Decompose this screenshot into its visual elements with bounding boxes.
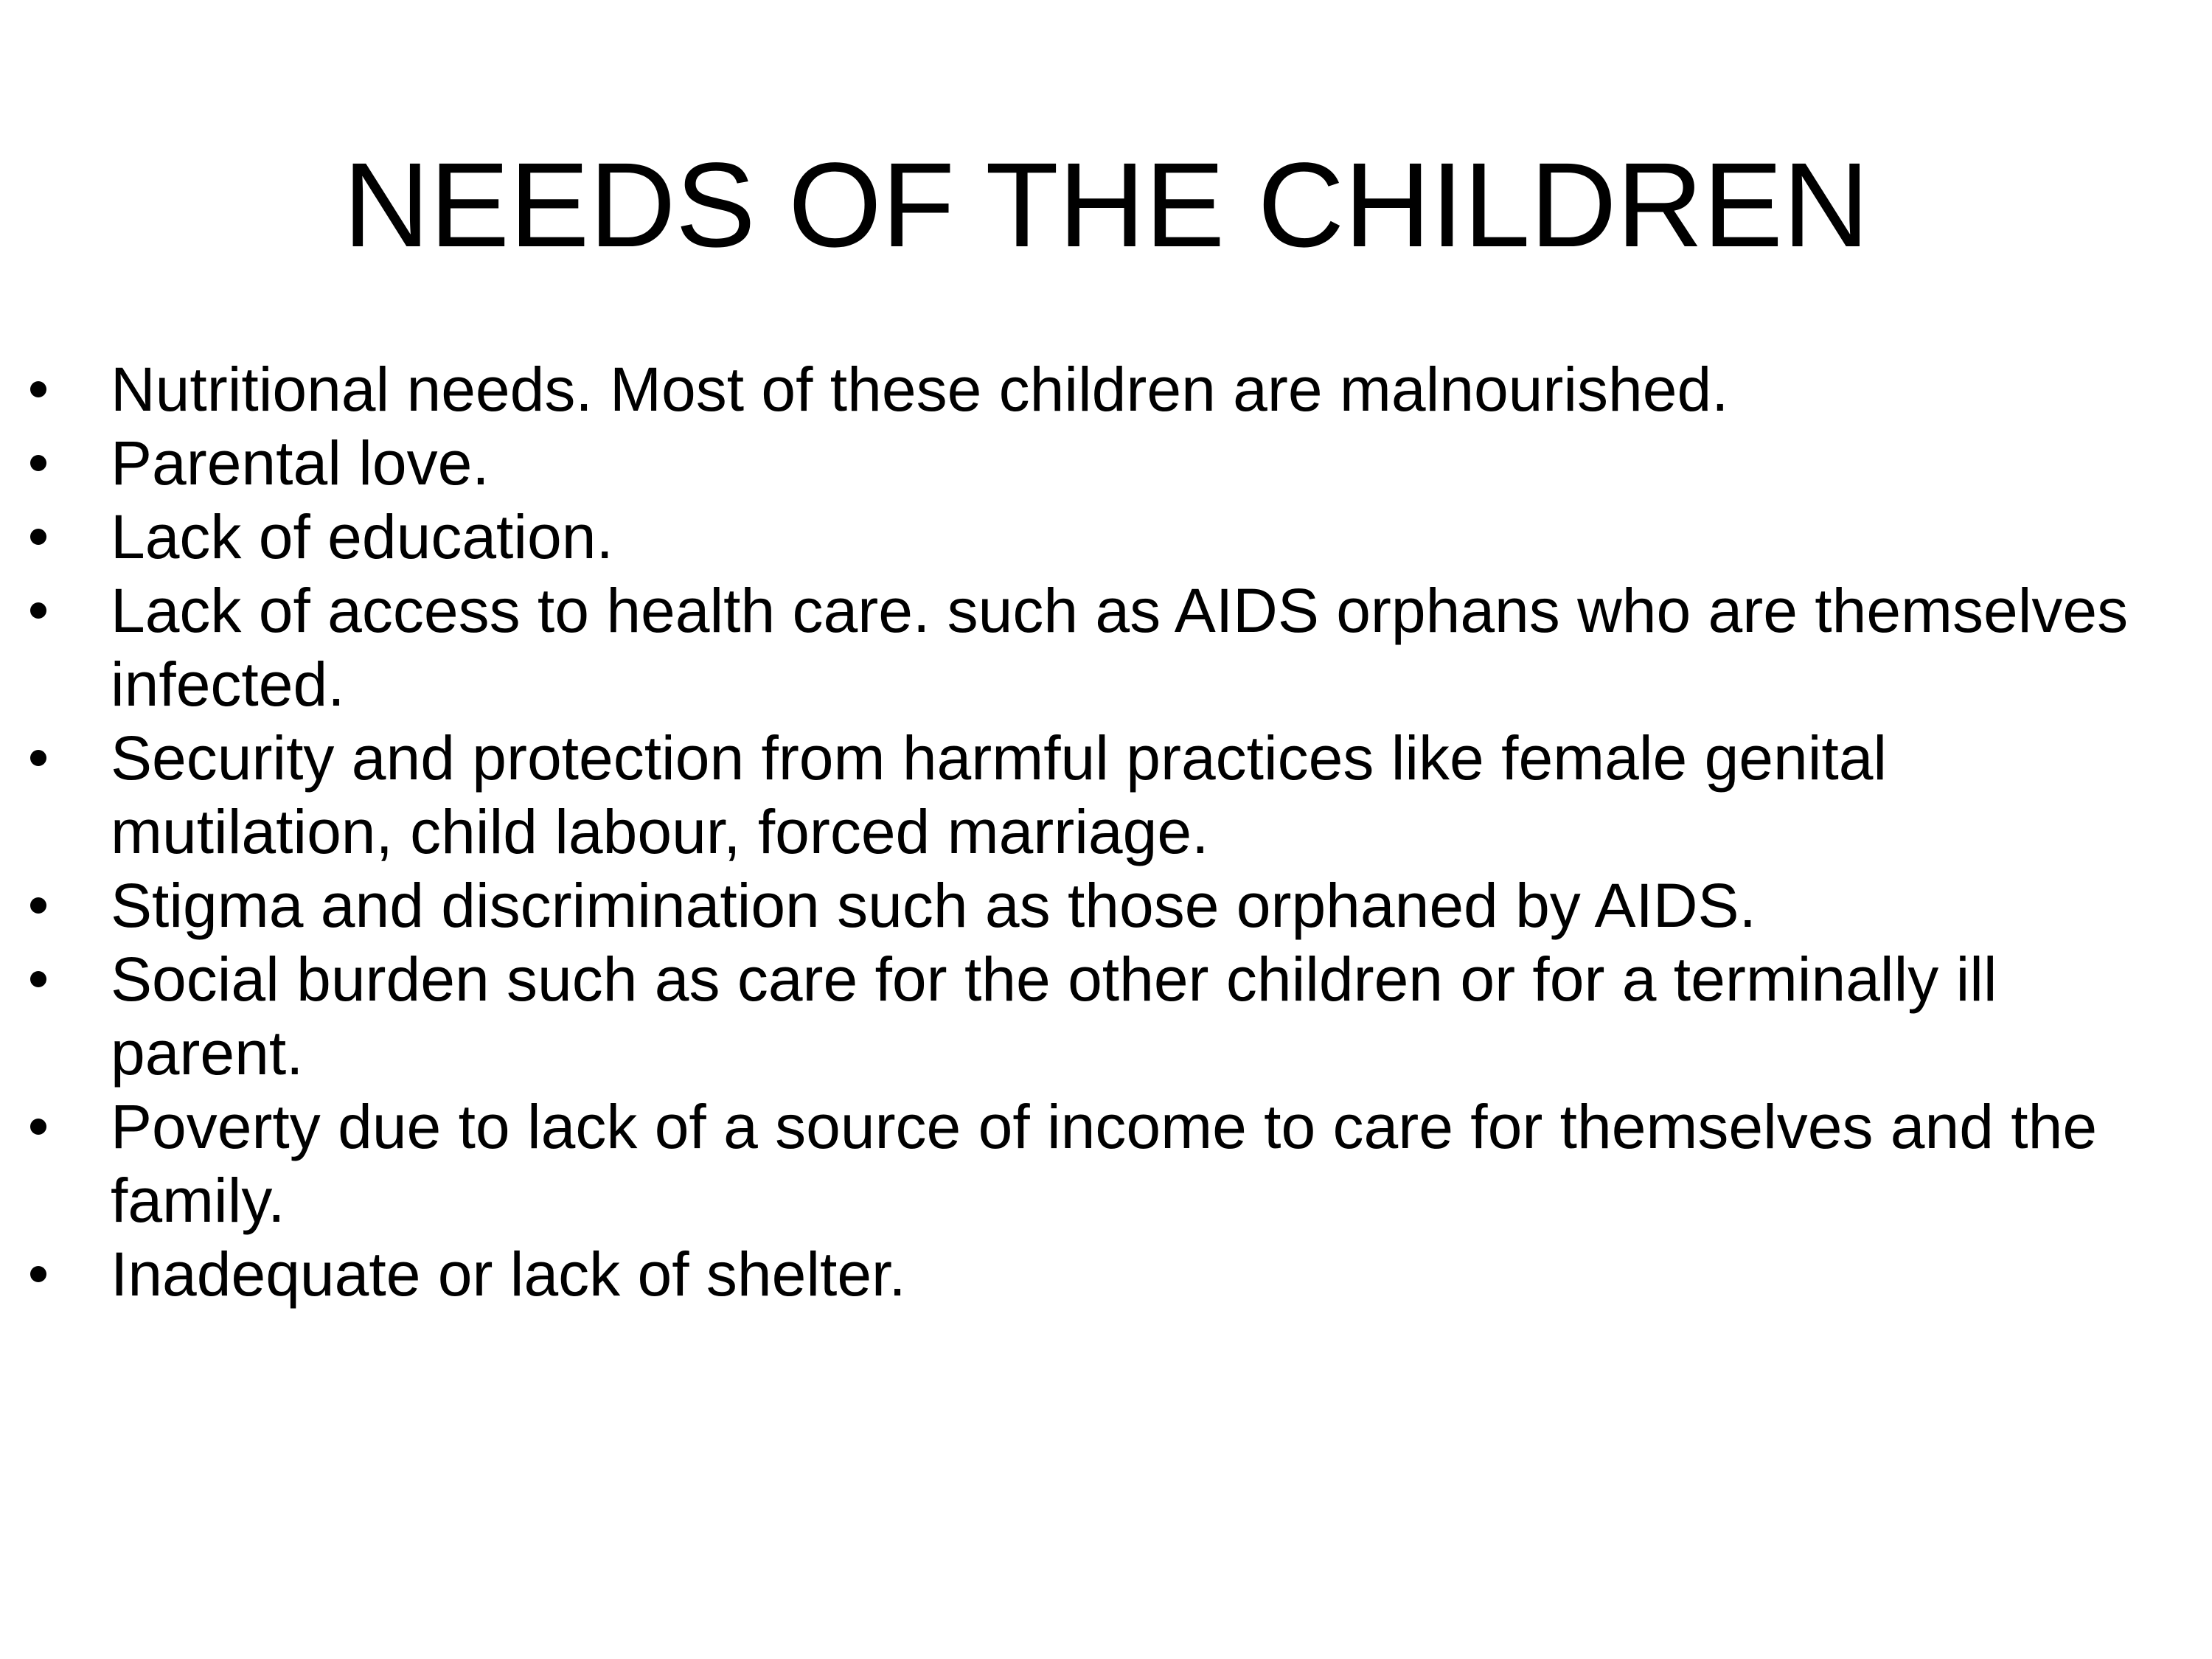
list-item-label: Security and protection from harmful pra… [111, 721, 2168, 869]
list-item: Nutritional needs. Most of these childre… [0, 352, 2168, 426]
list-item-label: Nutritional needs. Most of these childre… [111, 352, 2168, 426]
list-item: Stigma and discrimination such as those … [0, 869, 2168, 942]
bullet-dot-icon [30, 381, 46, 397]
list-item-label: Parental love. [111, 426, 2168, 500]
bullet-dot-icon [30, 750, 46, 766]
list-item: Parental love. [0, 426, 2168, 500]
list-item: Inadequate or lack of shelter. [0, 1237, 2168, 1311]
list-item-label: Inadequate or lack of shelter. [111, 1237, 2168, 1311]
list-item: Security and protection from harmful pra… [0, 721, 2168, 869]
list-item: Lack of access to health care. such as A… [0, 574, 2168, 721]
list-item: Lack of education. [0, 500, 2168, 574]
bullet-dot-icon [30, 1119, 46, 1135]
bullet-list: Nutritional needs. Most of these childre… [0, 352, 2168, 1311]
page-title: NEEDS OF THE CHILDREN [0, 145, 2212, 265]
bullet-dot-icon [30, 1266, 46, 1282]
bullet-dot-icon [30, 602, 46, 619]
list-item-label: Social burden such as care for the other… [111, 942, 2168, 1090]
list-item-label: Stigma and discrimination such as those … [111, 869, 2168, 942]
list-item-label: Lack of education. [111, 500, 2168, 574]
bullet-dot-icon [30, 971, 46, 987]
bullet-dot-icon [30, 529, 46, 545]
bullet-list-container: Nutritional needs. Most of these childre… [0, 352, 2168, 1311]
bullet-dot-icon [30, 897, 46, 914]
list-item-label: Poverty due to lack of a source of incom… [111, 1090, 2168, 1237]
slide-canvas: NEEDS OF THE CHILDREN Nutritional needs.… [0, 0, 2212, 1659]
list-item-label: Lack of access to health care. such as A… [111, 574, 2168, 721]
bullet-dot-icon [30, 455, 46, 471]
list-item: Poverty due to lack of a source of incom… [0, 1090, 2168, 1237]
list-item: Social burden such as care for the other… [0, 942, 2168, 1090]
